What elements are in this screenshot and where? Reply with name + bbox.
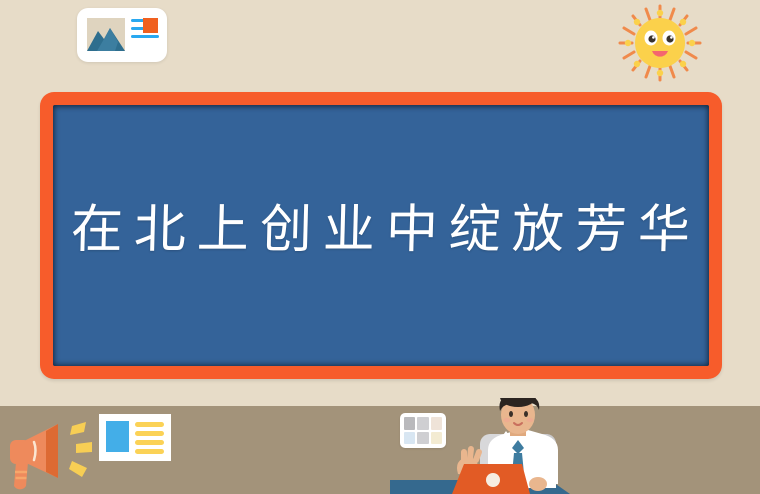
text-bar xyxy=(135,422,164,427)
thumbnail-image xyxy=(87,18,125,51)
businessman-at-laptop-illustration xyxy=(390,398,610,494)
fingers-left xyxy=(464,449,479,460)
page-title: 在北上创业中绽放芳华 xyxy=(60,204,702,256)
text-line xyxy=(131,35,159,38)
blackboard-surface: 在北上创业中绽放芳华 xyxy=(53,105,709,366)
text-bar xyxy=(135,440,164,445)
megaphone-svg xyxy=(2,408,98,494)
news-article-card-icon xyxy=(99,414,171,461)
blackboard-frame: 在北上创业中绽放芳华 xyxy=(40,92,722,379)
sound-waves xyxy=(69,422,92,477)
laptop-logo xyxy=(486,473,500,487)
card-image-placeholder xyxy=(106,421,129,452)
mountain-icon xyxy=(87,18,125,51)
text-bar xyxy=(135,449,164,454)
image-article-card-icon xyxy=(77,8,167,62)
orange-square-icon xyxy=(143,18,158,33)
megaphone-body xyxy=(10,440,30,464)
cheek-left xyxy=(504,418,511,422)
hand-right xyxy=(529,477,547,491)
megaphone-handle xyxy=(14,462,28,489)
card-text-bars xyxy=(135,422,164,458)
megaphone-horn-shade xyxy=(46,424,58,478)
text-bar xyxy=(135,431,164,436)
eye-right xyxy=(524,411,528,417)
sun-svg xyxy=(612,0,708,86)
cheek-right xyxy=(527,418,534,422)
eye-left xyxy=(509,411,513,417)
person-scene-svg xyxy=(390,398,610,494)
slide-canvas: 在北上创业中绽放芳华 xyxy=(0,0,760,494)
smiling-sun-icon xyxy=(612,0,708,86)
sun-body xyxy=(635,18,685,68)
megaphone-icon xyxy=(2,408,98,494)
